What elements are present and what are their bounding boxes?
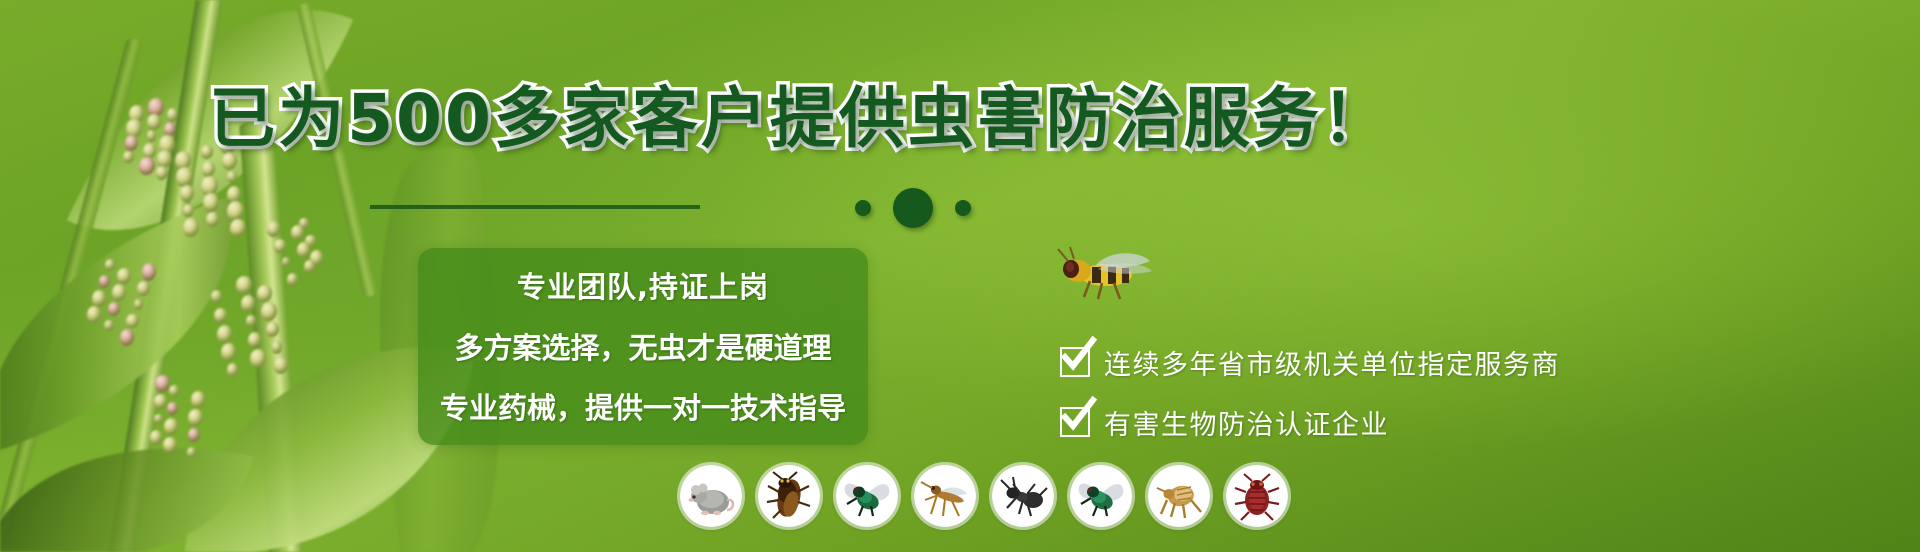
decorative-dots (855, 188, 971, 228)
housefly-icon[interactable] (1070, 465, 1132, 527)
banner-headline-text: 已为500多家客户提供虫害防治服务！ (209, 80, 1391, 157)
checklist-item: 有害生物防治认证企业 (1060, 392, 1560, 452)
bud-shape (163, 437, 177, 454)
checkbox-checked-icon (1060, 407, 1090, 437)
bud-shape (221, 343, 236, 361)
bud-shape (154, 394, 167, 409)
pest-type-icon-row (680, 465, 1288, 527)
bud-shape (236, 276, 252, 295)
bud-shape (282, 257, 290, 267)
bud-shape (272, 341, 282, 353)
panel-line-2: 多方案选择，无虫才是硬道理 (434, 318, 852, 378)
bud-shape (134, 299, 143, 310)
bud-shape (156, 166, 168, 180)
bud-shape (169, 385, 179, 397)
promo-banner: 已为500多家客户提供虫害防治服务！ 专业团队,持证上岗 (0, 0, 1920, 552)
bud-shape (202, 161, 215, 177)
bud-shape (167, 402, 178, 416)
credentials-checklist: 连续多年省市级机关单位指定服务商 有害生物防治认证企业 (1060, 332, 1560, 452)
decorative-dot-small (955, 200, 971, 216)
decorative-dot-large (893, 188, 933, 228)
bud-shape (155, 375, 170, 392)
panel-line-3: 专业药械，提供一对一技术指导 (434, 378, 852, 438)
green-bottle-fly-icon[interactable] (836, 465, 898, 527)
bud-shape (150, 430, 163, 445)
checklist-item-label: 连续多年省市级机关单位指定服务商 (1104, 343, 1560, 382)
bud-shape (164, 418, 178, 435)
bud-shape (214, 308, 226, 323)
bud-shape (206, 212, 219, 227)
decorative-dot-small (855, 200, 871, 216)
bud-shape (241, 295, 255, 312)
mouse-icon[interactable] (680, 465, 742, 527)
bedbug-icon[interactable] (1226, 465, 1288, 527)
bud-shape (246, 315, 256, 326)
bud-shape (154, 414, 163, 425)
selling-points-panel: 专业团队,持证上岗 多方案选择，无虫才是硬道理 专业药械，提供一对一技术指导 (418, 248, 868, 445)
bud-shape (250, 349, 266, 368)
bud-shape (211, 290, 222, 303)
bud-shape (274, 239, 286, 253)
checklist-item-label: 有害生物防治认证企业 (1104, 403, 1389, 442)
bud-shape (227, 363, 239, 377)
flea-icon[interactable] (1148, 465, 1210, 527)
bud-shape (188, 409, 202, 426)
bud-shape (188, 428, 200, 442)
cockroach-icon[interactable] (758, 465, 820, 527)
panel-line-1: 专业团队,持证上岗 (434, 256, 852, 318)
bud-shape (261, 302, 277, 321)
banner-headline: 已为500多家客户提供虫害防治服务！ (0, 80, 1600, 158)
checkbox-checked-icon (1060, 347, 1090, 377)
hoverfly-icon (1040, 245, 1160, 307)
bud-shape (217, 325, 233, 343)
bud-shape (191, 391, 205, 407)
bud-shape (304, 260, 315, 273)
bud-shape (183, 218, 199, 236)
decorative-rule (370, 205, 700, 209)
bud-shape (287, 273, 298, 287)
bud-shape (87, 306, 101, 323)
checklist-item: 连续多年省市级机关单位指定服务商 (1060, 332, 1560, 392)
ant-icon[interactable] (992, 465, 1054, 527)
bud-shape (297, 242, 310, 258)
bud-shape (227, 171, 237, 183)
bud-shape (230, 219, 246, 237)
bud-shape (180, 185, 194, 202)
mosquito-icon[interactable] (914, 465, 976, 527)
bud-shape (291, 225, 304, 240)
